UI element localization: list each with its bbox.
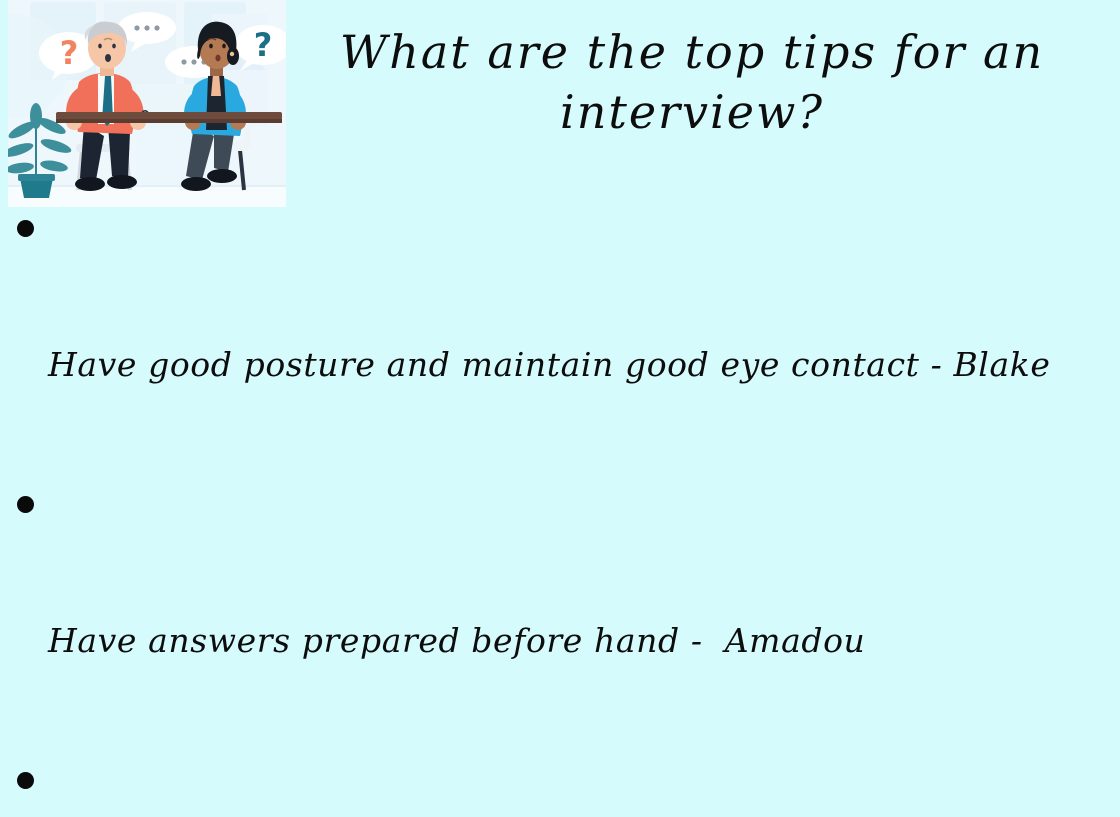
slide-header: ? [0,0,1120,208]
job-interview-illustration: ? [8,0,286,207]
svg-text:?: ? [60,34,79,72]
svg-text:?: ? [254,26,273,64]
bullet-icon [17,220,34,237]
tips-list: Have good posture and maintain good eye … [0,204,1120,817]
bullet-icon [17,496,34,513]
list-item: Have good posture and maintain good eye … [0,204,1120,480]
slide-canvas: ? [0,0,1120,817]
list-item-text: Have good posture and maintain good eye … [48,342,1120,388]
list-item: Have answers prepared before hand - Amad… [0,480,1120,756]
bullet-icon [17,772,34,789]
list-item: Show off your personality - Dan [0,756,1120,817]
list-item-text: Have answers prepared before hand - Amad… [48,618,1120,664]
page-title: What are the top tips for an interview? [292,22,1092,142]
